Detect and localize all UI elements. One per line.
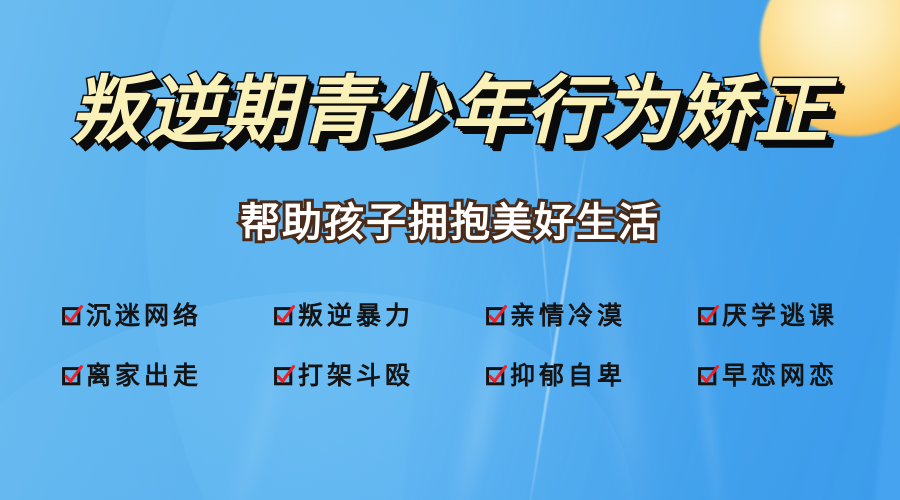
promo-banner: 叛逆期青少年行为矫正 帮助孩子拥抱美好生活 沉迷网络 bbox=[0, 0, 900, 500]
checklist-item: 离家出走 bbox=[62, 363, 202, 388]
checklist-item: 厌学逃课 bbox=[698, 303, 838, 328]
checked-checkbox-icon bbox=[62, 366, 81, 385]
banner-content: 叛逆期青少年行为矫正 帮助孩子拥抱美好生活 沉迷网络 bbox=[0, 0, 900, 500]
checklist-item-label: 叛逆暴力 bbox=[298, 303, 414, 328]
checklist-item-label: 沉迷网络 bbox=[86, 303, 202, 328]
checklist-item: 抑郁自卑 bbox=[486, 363, 626, 388]
checklist: 沉迷网络 叛逆暴力 bbox=[62, 296, 838, 416]
checklist-item: 叛逆暴力 bbox=[274, 303, 414, 328]
banner-title: 叛逆期青少年行为矫正 bbox=[0, 74, 900, 148]
checked-checkbox-icon bbox=[698, 366, 717, 385]
checked-checkbox-icon bbox=[274, 306, 293, 325]
checklist-item-label: 亲情冷漠 bbox=[510, 303, 626, 328]
checked-checkbox-icon bbox=[698, 306, 717, 325]
banner-subtitle: 帮助孩子拥抱美好生活 bbox=[0, 203, 900, 243]
checked-checkbox-icon bbox=[274, 366, 293, 385]
checklist-item-label: 早恋网恋 bbox=[722, 363, 838, 388]
checklist-item-label: 离家出走 bbox=[86, 363, 202, 388]
checklist-item: 打架斗殴 bbox=[274, 363, 414, 388]
checklist-item: 亲情冷漠 bbox=[486, 303, 626, 328]
checked-checkbox-icon bbox=[62, 306, 81, 325]
checklist-item-label: 厌学逃课 bbox=[722, 303, 838, 328]
checklist-item: 早恋网恋 bbox=[698, 363, 838, 388]
checked-checkbox-icon bbox=[486, 366, 505, 385]
checklist-item-label: 打架斗殴 bbox=[298, 363, 414, 388]
checklist-row: 沉迷网络 叛逆暴力 bbox=[62, 296, 838, 334]
checked-checkbox-icon bbox=[486, 306, 505, 325]
checklist-item: 沉迷网络 bbox=[62, 303, 202, 328]
checklist-row: 离家出走 打架斗殴 bbox=[62, 356, 838, 394]
checklist-item-label: 抑郁自卑 bbox=[510, 363, 626, 388]
